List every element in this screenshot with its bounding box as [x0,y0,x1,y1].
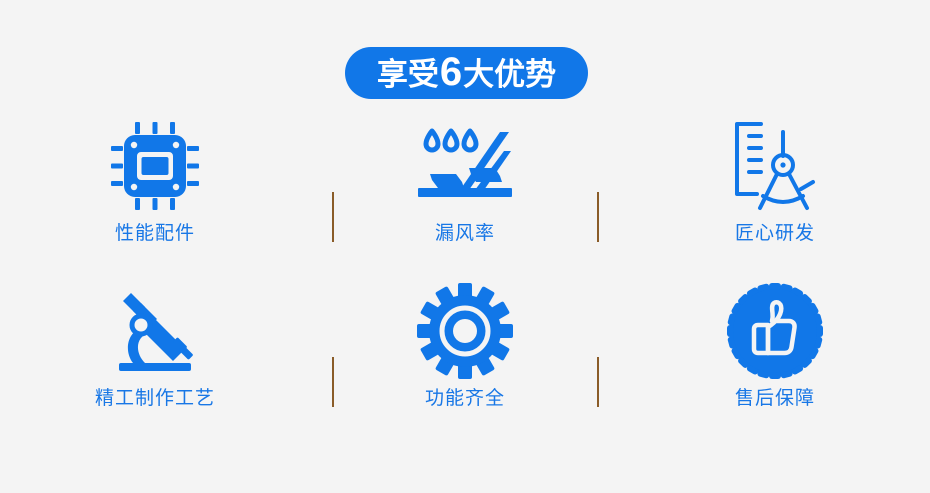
features-row-2: 精工制作工艺 [0,277,930,442]
water-repellent-icon [412,112,518,220]
feature-item-performance-parts[interactable]: 性能配件 [0,112,310,277]
feature-item-rnd[interactable]: 匠心研发 [620,112,930,277]
features-row-1: 性能配件 [0,112,930,277]
features-grid: 性能配件 [0,112,930,442]
feature-item-craftsmanship[interactable]: 精工制作工艺 [0,277,310,442]
feature-item-after-sales[interactable]: 售后保障 [620,277,930,442]
feature-label: 售后保障 [735,389,815,408]
feature-label: 漏风率 [435,224,495,243]
feature-label: 性能配件 [115,224,195,243]
section-title: 享受6大优势 [377,52,556,92]
feature-item-air-leakage[interactable]: 漏风率 [310,112,620,277]
microscope-icon [107,277,203,385]
feature-highlights-page: 享受6大优势 [0,0,930,493]
feature-item-full-function[interactable]: 功能齐全 [310,277,620,442]
section-title-suffix: 大优势 [463,59,556,90]
thumbs-up-badge-icon [727,277,823,385]
section-title-badge: 享受6大优势 [345,47,588,99]
section-title-number: 6 [439,52,463,92]
ruler-compass-icon [727,112,823,220]
feature-label: 功能齐全 [425,389,505,408]
gear-icon [417,277,513,385]
feature-label: 匠心研发 [735,224,815,243]
cpu-chip-icon [107,112,203,220]
feature-label: 精工制作工艺 [95,389,215,408]
section-title-prefix: 享受 [377,59,439,90]
